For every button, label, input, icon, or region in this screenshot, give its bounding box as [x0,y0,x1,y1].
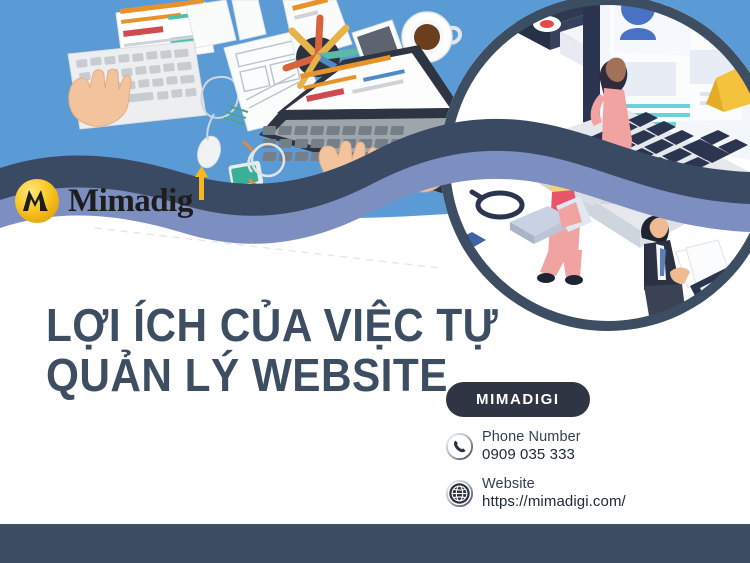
logo[interactable]: Mimadig [14,178,205,224]
logo-wordmark: Mimadig [68,185,205,218]
keyboard-illustration [68,41,206,129]
contact-row-website[interactable]: Website https://mimadigi.com/ [446,476,626,511]
promo-banner: Mimadig LỢI ÍCH CỦA VIỆC TỰ QUẢN LÝ WEBS… [0,0,750,563]
bottom-bar [0,524,750,563]
contact-label-website: Website [482,476,626,493]
page-title: LỢI ÍCH CỦA VIỆC TỰ QUẢN LÝ WEBSITE [46,300,466,400]
logo-mark-icon [14,178,60,224]
contact-label-phone: Phone Number [482,429,581,446]
headline-line-2: QUẢN LÝ WEBSITE [46,350,432,400]
phone-icon [446,433,473,460]
illustration-artwork [0,0,750,563]
contact-text-phone: Phone Number 0909 035 333 [482,429,581,464]
contact-row-phone[interactable]: Phone Number 0909 035 333 [446,429,626,464]
brand-pill-button[interactable]: MIMADIGI [446,382,590,417]
globe-icon [446,480,473,507]
headline-line-1: LỢI ÍCH CỦA VIỆC TỰ [46,300,432,350]
contact-value-phone: 0909 035 333 [482,446,581,464]
contact-text-website: Website https://mimadigi.com/ [482,476,626,511]
contact-panel: MIMADIGI Phone Number 0909 035 333 [446,382,626,511]
contact-value-website: https://mimadigi.com/ [482,493,626,511]
logo-arrow-icon [194,166,209,200]
